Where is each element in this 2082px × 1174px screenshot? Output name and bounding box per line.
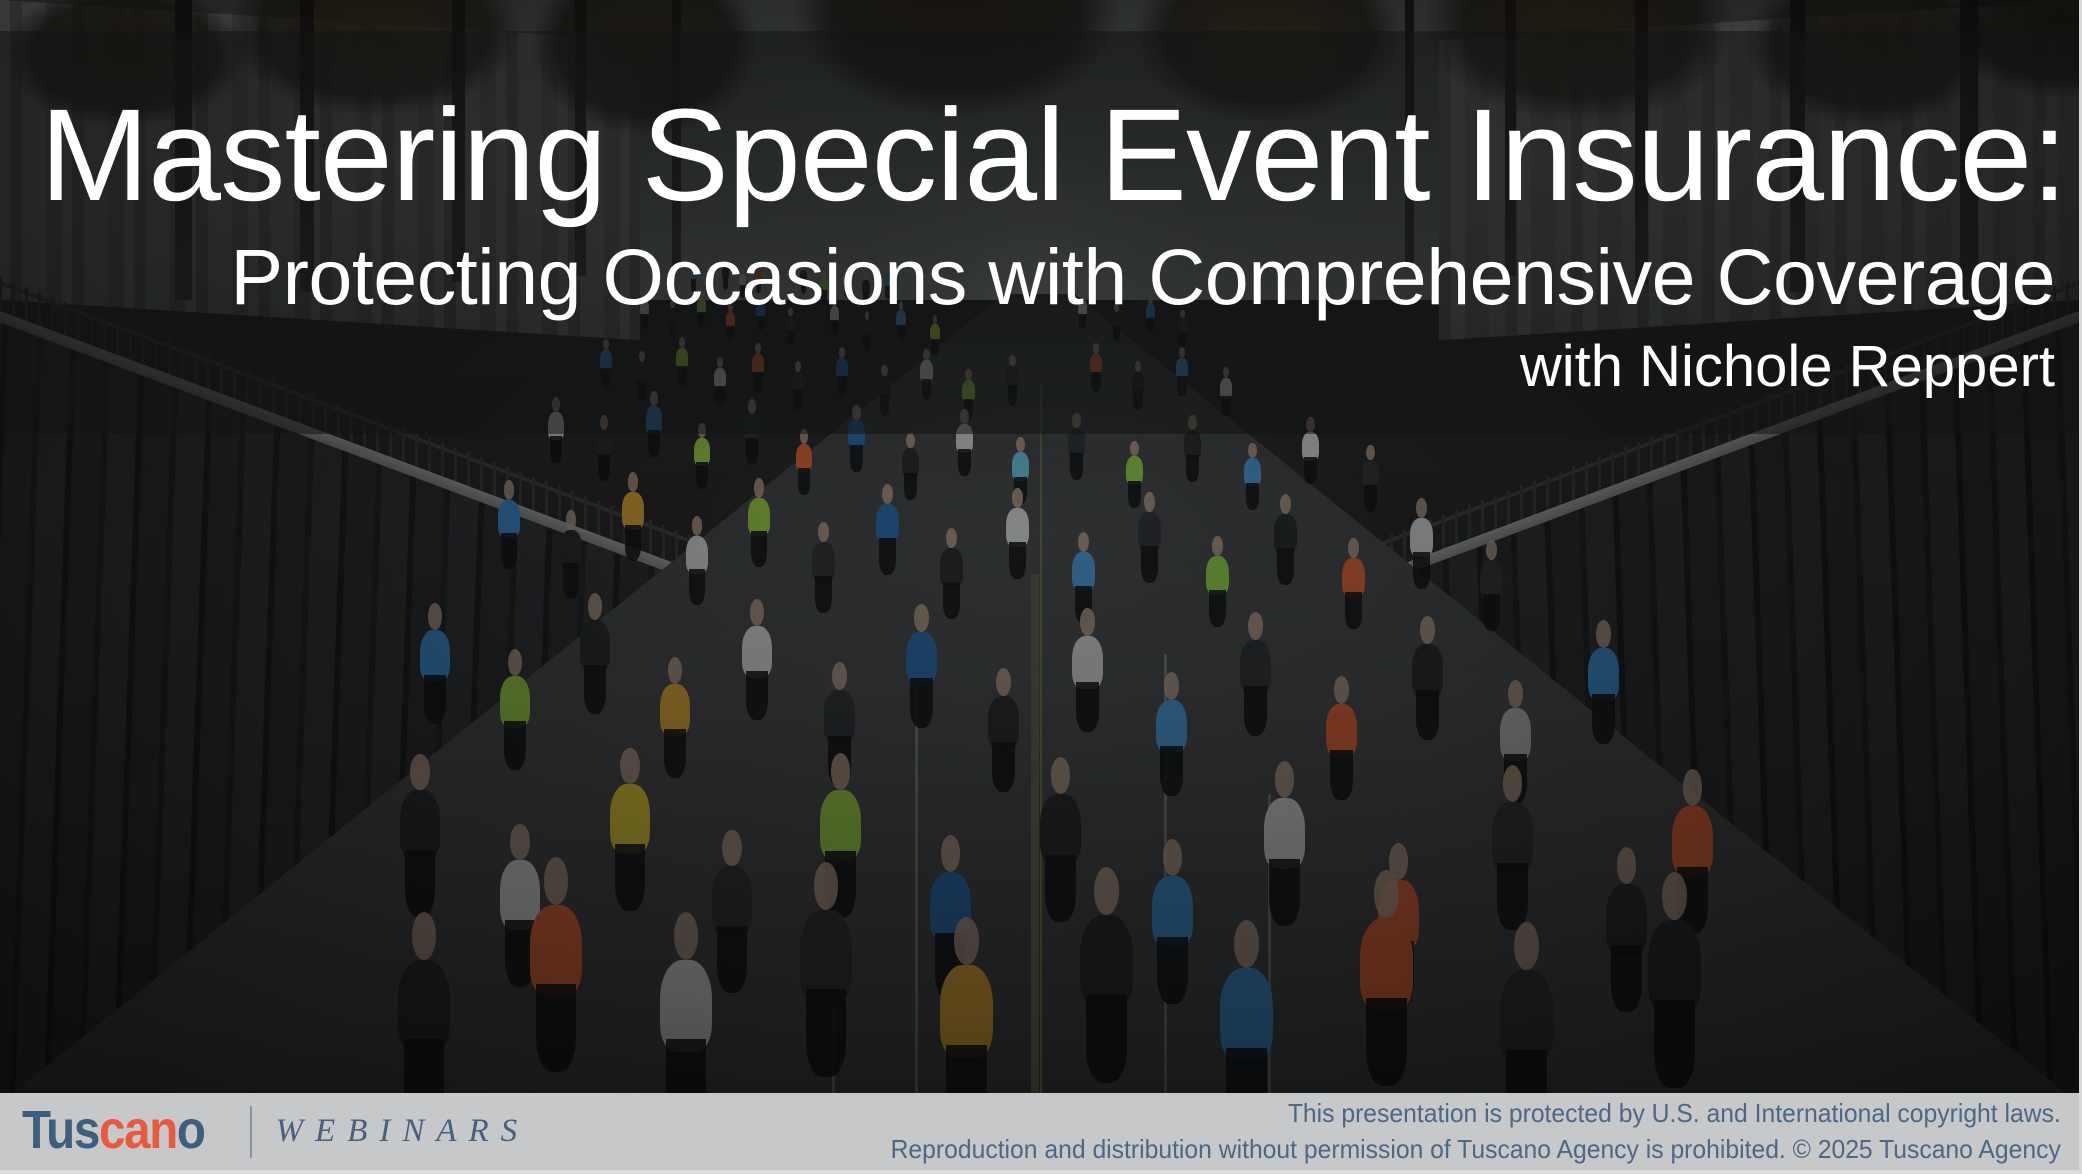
runner — [1152, 876, 1193, 947]
runner — [1138, 512, 1161, 551]
logo-segment-tus: Tus — [22, 1100, 99, 1160]
runner — [712, 866, 752, 936]
runner — [820, 790, 861, 861]
runner — [1480, 560, 1503, 599]
runner — [1220, 968, 1273, 1061]
runner — [812, 542, 835, 581]
runner — [1072, 552, 1095, 591]
runner — [580, 620, 610, 672]
runner — [1342, 558, 1365, 597]
runner — [748, 498, 770, 536]
runner — [530, 905, 582, 997]
runner — [660, 684, 690, 736]
runner — [1040, 794, 1081, 865]
runner — [622, 492, 644, 530]
runner — [596, 430, 612, 458]
runner — [1500, 708, 1531, 761]
runner — [796, 444, 812, 472]
runner — [398, 960, 450, 1052]
runner — [400, 790, 440, 860]
runner — [1206, 556, 1229, 595]
runner — [1412, 644, 1443, 697]
runner — [1244, 458, 1261, 487]
runner — [686, 536, 708, 574]
runner — [1648, 920, 1701, 1013]
copyright-line-2: Reproduction and distribution without pe… — [891, 1132, 2061, 1167]
presenter-name: with Nichole Reppert — [40, 338, 2055, 396]
slide-footer: Tuscano WEBINARS This presentation is pr… — [0, 1093, 2079, 1174]
runner — [1326, 704, 1357, 757]
runner — [906, 632, 937, 685]
runner — [902, 448, 919, 477]
brand-lockup: Tuscano WEBINARS — [22, 1093, 529, 1170]
logo-segment-can: can — [99, 1100, 177, 1160]
runner — [1184, 430, 1201, 459]
copyright-line-1: This presentation is protected by U.S. a… — [891, 1096, 2061, 1131]
runner — [940, 965, 993, 1058]
runner — [1302, 432, 1319, 461]
runner — [498, 500, 520, 538]
runner — [1080, 915, 1133, 1008]
runner — [940, 548, 963, 587]
runner — [1126, 456, 1143, 485]
runner — [660, 960, 712, 1052]
runner — [1156, 700, 1187, 753]
presentation-slide: Mastering Special Event Insurance: Prote… — [0, 0, 2082, 1174]
runner — [560, 530, 582, 568]
runner — [876, 504, 899, 543]
runner — [1240, 640, 1271, 693]
runner — [1274, 514, 1297, 553]
page-title: Mastering Special Event Insurance: — [40, 89, 2055, 220]
median-strip-grass — [1031, 574, 1039, 1174]
runner — [1012, 452, 1029, 481]
brand-divider — [250, 1106, 252, 1158]
runner — [1492, 802, 1533, 873]
runner — [694, 438, 710, 466]
runner — [1360, 918, 1413, 1011]
logo-segment-o: o — [177, 1100, 205, 1160]
runner — [1264, 798, 1305, 869]
title-block: Mastering Special Event Insurance: Prote… — [0, 31, 2079, 434]
runner — [500, 676, 530, 728]
runner — [1606, 884, 1647, 955]
runner — [742, 626, 772, 678]
runner — [824, 690, 855, 743]
runner — [1500, 970, 1553, 1063]
runner — [1672, 806, 1713, 877]
runner — [1410, 518, 1433, 557]
runner — [1588, 648, 1619, 701]
runner — [800, 910, 852, 1002]
runner — [420, 630, 450, 682]
page-subtitle: Protecting Occasions with Comprehensive … — [40, 237, 2055, 316]
median-strip — [1040, 384, 1042, 1174]
runner — [988, 696, 1019, 749]
tuscano-logo: Tuscano — [22, 1103, 205, 1161]
runner — [1362, 460, 1379, 489]
runner — [1006, 508, 1029, 547]
copyright-notice: This presentation is protected by U.S. a… — [891, 1096, 2061, 1166]
runner — [1072, 636, 1103, 689]
webinars-tagline: WEBINARS — [276, 1113, 530, 1150]
runner — [610, 784, 650, 854]
